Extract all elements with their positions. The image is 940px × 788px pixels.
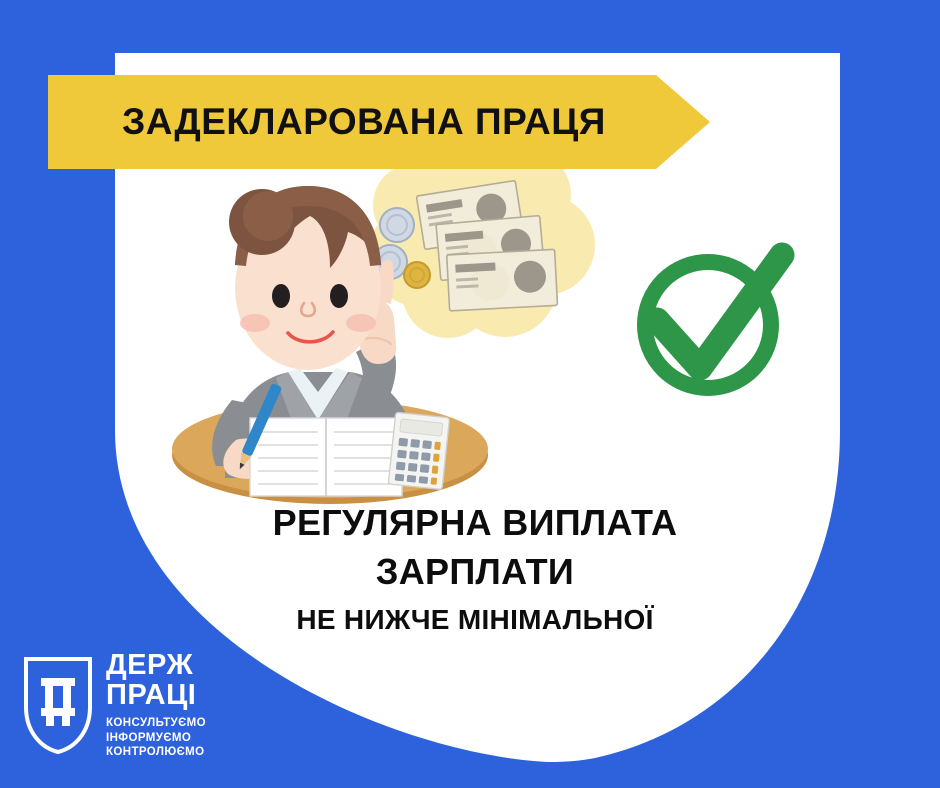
logo-tagline-line-2: ІНФОРМУЄМО (106, 731, 206, 746)
headline-line-1: РЕГУЛЯРНА ВИПЛАТА (115, 500, 835, 546)
poster-canvas: ЗАДЕКЛАРОВАНА ПРАЦЯ РЕГУЛЯРНА ВИПЛАТА ЗА… (0, 0, 940, 788)
derzhpratsi-shield-icon (22, 655, 94, 755)
banner-label: ЗАДЕКЛАРОВАНА ПРАЦЯ (48, 75, 658, 169)
headline-line-3: НЕ НИЖЧЕ МІНІМАЛЬНОЇ (115, 598, 835, 642)
headline-block: РЕГУЛЯРНА ВИПЛАТА ЗАРПЛАТИ НЕ НИЖЧЕ МІНІ… (115, 500, 835, 642)
logo-word-pratsi: ПРАЦІ (106, 680, 206, 710)
logo-text-block: ДЕРЖ ПРАЦІ КОНСУЛЬТУЄМО ІНФОРМУЄМО КОНТР… (106, 650, 206, 760)
declared-work-banner: ЗАДЕКЛАРОВАНА ПРАЦЯ (48, 75, 710, 169)
headline-line-2: ЗАРПЛАТИ (115, 546, 835, 598)
logo-tagline-line-3: КОНТРОЛЮЄМО (106, 745, 206, 760)
logo-tagline: КОНСУЛЬТУЄМО ІНФОРМУЄМО КОНТРОЛЮЄМО (106, 716, 206, 760)
derzhpratsi-logo[interactable]: ДЕРЖ ПРАЦІ КОНСУЛЬТУЄМО ІНФОРМУЄМО КОНТР… (22, 650, 242, 775)
logo-tagline-line-1: КОНСУЛЬТУЄМО (106, 716, 206, 731)
logo-word-derzh: ДЕРЖ (106, 650, 206, 680)
